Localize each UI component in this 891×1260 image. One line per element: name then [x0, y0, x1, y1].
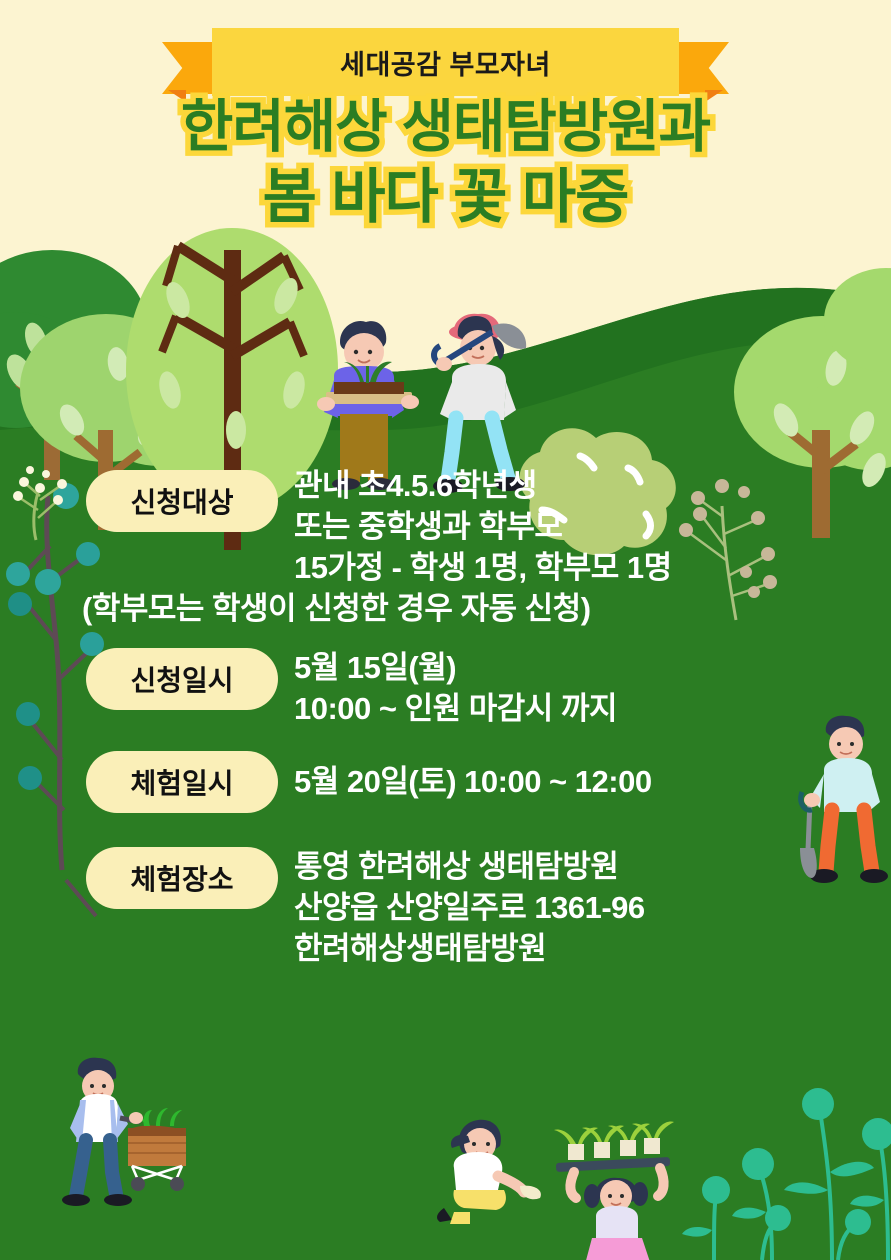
target-line-1: 관내 초4.5.6학년생 — [294, 466, 672, 507]
ribbon-text: 세대공감 부모자녀 — [340, 43, 551, 82]
title-line-2: 봄 바다 꽃 마중 — [0, 165, 891, 230]
values-apply-date: 5월 15일(월) 10:00 ~ 인원 마감시 까지 — [294, 648, 617, 730]
target-line-4: (학부모는 학생이 신청한 경우 자동 신청) — [82, 589, 672, 630]
event-date-line-1: 5월 20일(토) 10:00 ~ 12:00 — [294, 762, 652, 803]
title-line-1: 한려해상 생태탐방원과 — [0, 96, 891, 159]
apply-date-line-1: 5월 15일(월) — [294, 648, 617, 689]
target-line-2: 또는 중학생과 학부모 — [294, 507, 672, 548]
location-line-1: 통영 한려해상 생태탐방원 — [294, 847, 645, 888]
ribbon-center: 세대공감 부모자녀 — [212, 28, 679, 96]
info-rows: 신청대상 관내 초4.5.6학년생 또는 중학생과 학부모 15가정 - 학생 … — [0, 470, 891, 988]
target-line-3: 15가정 - 학생 1명, 학부모 1명 — [294, 548, 672, 589]
location-line-3: 한려해상생태탐방원 — [294, 929, 645, 970]
poster-title: 한려해상 생태탐방원과 봄 바다 꽃 마중 — [0, 96, 891, 231]
values-location: 통영 한려해상 생태탐방원 산양읍 산양일주로 1361-96 한려해상생태탐방… — [294, 847, 645, 970]
label-event-date: 체험일시 — [86, 751, 278, 813]
poster-canvas: 세대공감 부모자녀 한려해상 생태탐방원과 봄 바다 꽃 마중 신청대상 관내 … — [0, 0, 891, 1260]
info-row-apply-date: 신청일시 5월 15일(월) 10:00 ~ 인원 마감시 까지 — [0, 648, 891, 730]
label-target: 신청대상 — [86, 470, 278, 532]
location-line-2: 산양읍 산양일주로 1361-96 — [294, 888, 645, 929]
label-apply-date: 신청일시 — [86, 648, 278, 710]
apply-date-line-2: 10:00 ~ 인원 마감시 까지 — [294, 689, 617, 730]
info-row-location: 체험장소 통영 한려해상 생태탐방원 산양읍 산양일주로 1361-96 한려해… — [0, 847, 891, 970]
info-row-target: 신청대상 관내 초4.5.6학년생 또는 중학생과 학부모 15가정 - 학생 … — [0, 470, 891, 630]
info-row-event-date: 체험일시 5월 20일(토) 10:00 ~ 12:00 — [0, 751, 891, 813]
values-target: 관내 초4.5.6학년생 또는 중학생과 학부모 15가정 - 학생 1명, 학… — [294, 466, 672, 630]
label-location: 체험장소 — [86, 847, 278, 909]
values-event-date: 5월 20일(토) 10:00 ~ 12:00 — [294, 762, 652, 803]
